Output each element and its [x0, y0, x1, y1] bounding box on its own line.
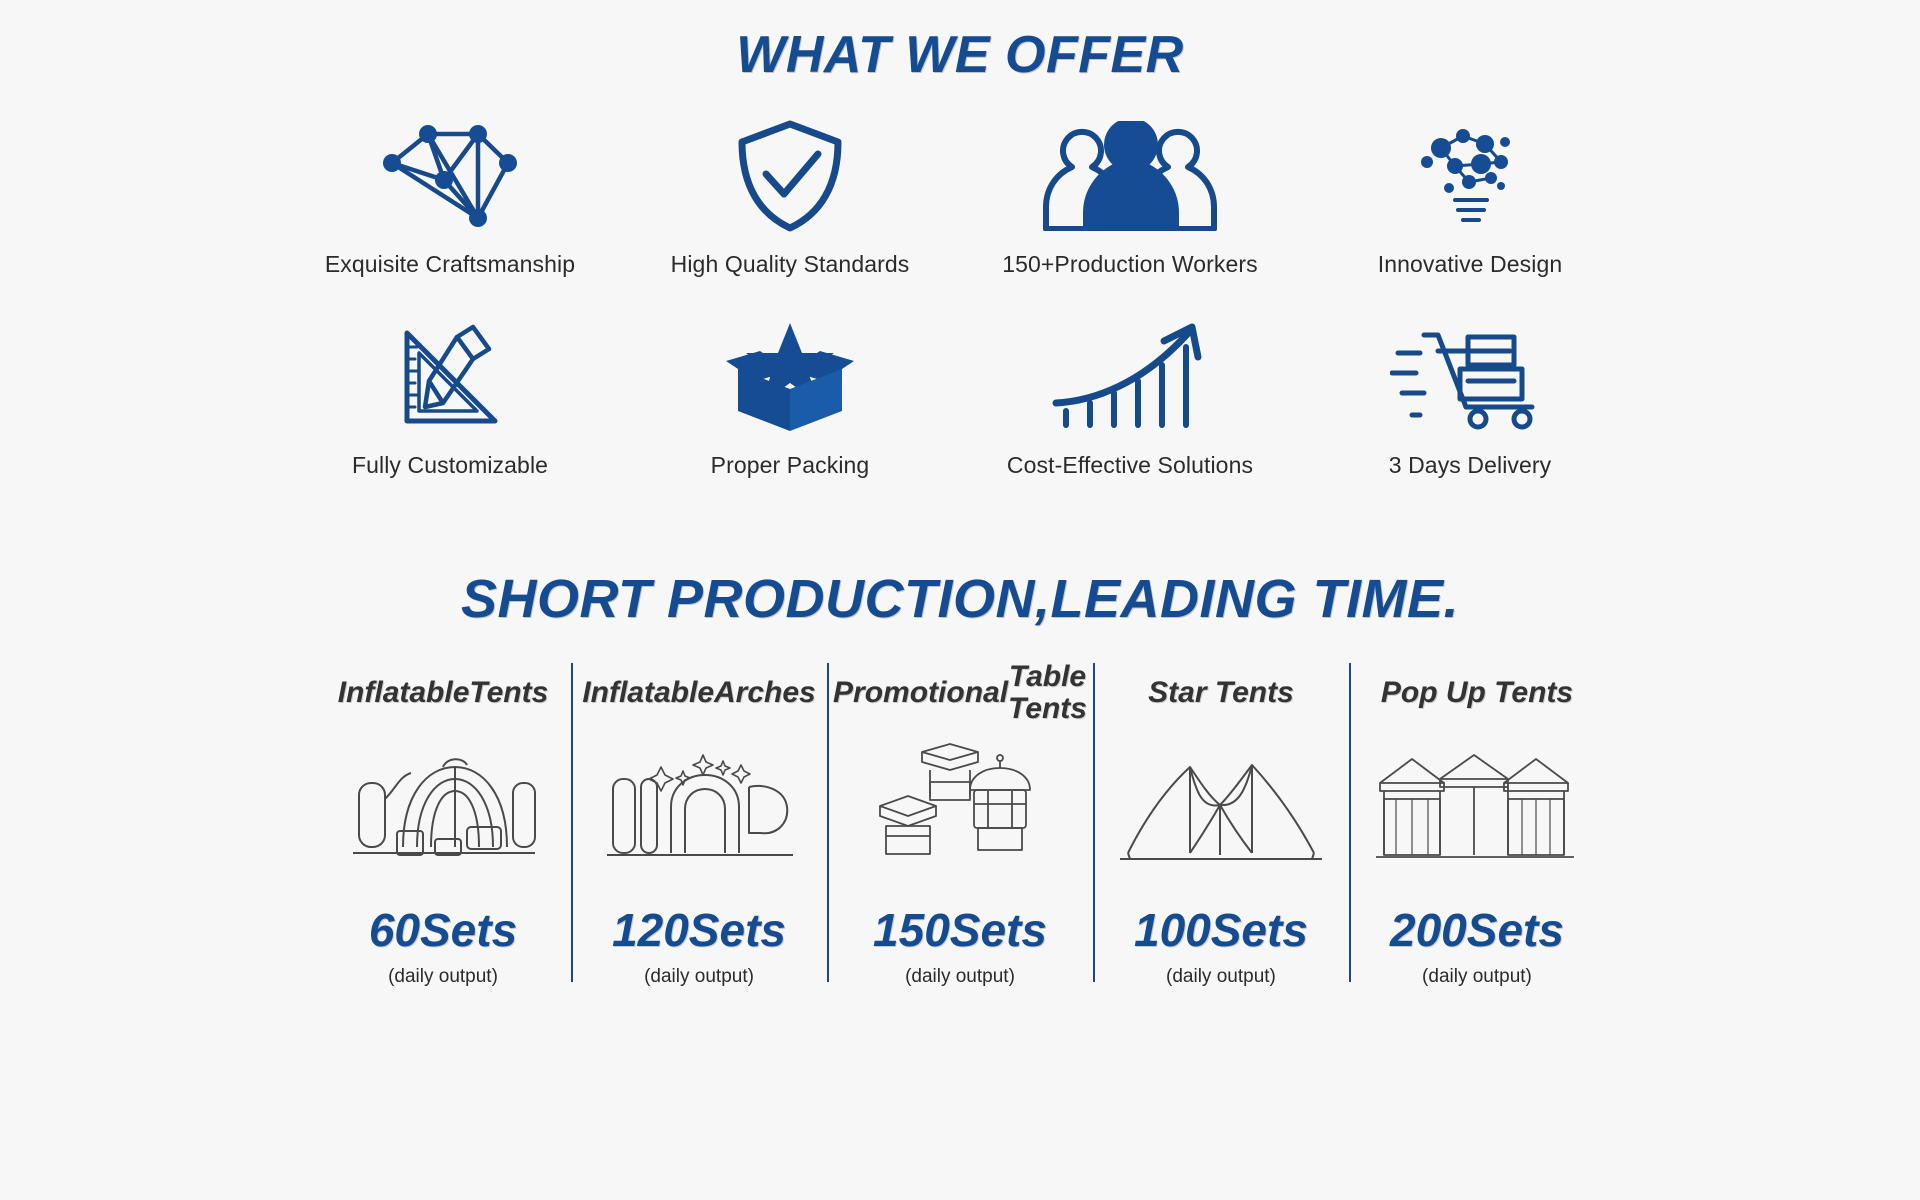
inflatable-arch-illustration — [599, 733, 799, 883]
production-columns: Inflatable Tents — [315, 657, 1605, 988]
offer-item-high-quality-standards: High Quality Standards — [620, 117, 960, 278]
offer-feature-grid: Exquisite Craftsmanship High Quality Sta… — [280, 117, 1640, 479]
inflatable-tent-illustration — [343, 733, 543, 883]
production-column-pop-up-tents: Pop Up Tents — [1349, 657, 1605, 988]
production-column-promotional-table-tents: Promotional Table Tents — [827, 657, 1093, 988]
open-box-star-icon — [720, 318, 860, 436]
offer-item-label: Innovative Design — [1378, 251, 1563, 278]
offer-item-exquisite-craftsmanship: Exquisite Craftsmanship — [280, 117, 620, 278]
production-column-heading: Pop Up Tents — [1381, 657, 1573, 729]
production-column-heading: Star Tents — [1148, 657, 1294, 729]
offer-item-fully-customizable: Fully Customizable — [280, 318, 620, 479]
heading-line-2: Tents — [469, 677, 548, 709]
infographic-page: WHAT WE OFFER — [0, 0, 1920, 1200]
offer-item-proper-packing: Proper Packing — [620, 318, 960, 479]
growth-chart-arrow-icon — [1050, 318, 1210, 436]
offer-item-label: Fully Customizable — [352, 452, 548, 479]
heading-line-2: Table Tents — [1008, 661, 1087, 725]
heading-line-1: Star Tents — [1148, 677, 1294, 709]
heading-line-1: Promotional — [833, 677, 1008, 709]
production-daily-count: 120Sets — [612, 907, 786, 953]
offer-item-innovative-design: Innovative Design — [1300, 117, 1640, 278]
heading-line-1: Pop Up Tents — [1381, 677, 1573, 709]
production-daily-count: 150Sets — [873, 907, 1047, 953]
offer-item-cost-effective-solutions: Cost-Effective Solutions — [960, 318, 1300, 479]
production-column-heading: Inflatable Arches — [582, 657, 815, 729]
offer-item-3-days-delivery: 3 Days Delivery — [1300, 318, 1640, 479]
production-section: SHORT PRODUCTION,LEADING TIME. Inflatabl… — [0, 571, 1920, 989]
production-daily-note: (daily output) — [644, 966, 754, 988]
production-daily-note: (daily output) — [905, 966, 1015, 988]
production-column-inflatable-arches: Inflatable Arches — [571, 657, 827, 988]
promotional-table-tent-illustration — [860, 733, 1060, 883]
pop-up-tent-illustration — [1372, 733, 1582, 883]
production-daily-count: 200Sets — [1390, 907, 1564, 953]
production-daily-note: (daily output) — [388, 966, 498, 988]
gem-network-icon — [370, 117, 530, 235]
offer-item-label: Proper Packing — [711, 452, 870, 479]
offer-item-label: Cost-Effective Solutions — [1007, 452, 1253, 479]
production-column-heading: Inflatable Tents — [338, 657, 549, 729]
fast-delivery-cart-icon — [1390, 318, 1550, 436]
production-daily-note: (daily output) — [1166, 966, 1276, 988]
page-title-short-production: SHORT PRODUCTION,LEADING TIME. — [0, 571, 1920, 628]
ruler-pencil-icon — [385, 318, 515, 436]
offer-item-production-workers: 150+Production Workers — [960, 117, 1300, 278]
offer-item-label: High Quality Standards — [671, 251, 910, 278]
production-daily-count: 100Sets — [1134, 907, 1308, 953]
production-daily-note: (daily output) — [1422, 966, 1532, 988]
production-daily-count: 60Sets — [369, 907, 517, 953]
star-tent-illustration — [1116, 733, 1326, 883]
offer-item-label: 3 Days Delivery — [1389, 452, 1552, 479]
production-column-heading: Promotional Table Tents — [833, 657, 1087, 729]
production-column-star-tents: Star Tents — [1093, 657, 1349, 988]
production-column-inflatable-tents: Inflatable Tents — [315, 657, 571, 988]
offer-item-label: 150+Production Workers — [1002, 251, 1258, 278]
heading-line-1: Inflatable — [338, 677, 470, 709]
shield-check-icon — [730, 117, 850, 235]
heading-line-2: Arches — [714, 677, 816, 709]
lightbulb-network-icon — [1405, 117, 1535, 235]
heading-line-1: Inflatable — [582, 677, 714, 709]
page-title-what-we-offer: WHAT WE OFFER — [0, 0, 1920, 83]
three-people-icon — [1042, 117, 1218, 235]
offer-item-label: Exquisite Craftsmanship — [325, 251, 575, 278]
